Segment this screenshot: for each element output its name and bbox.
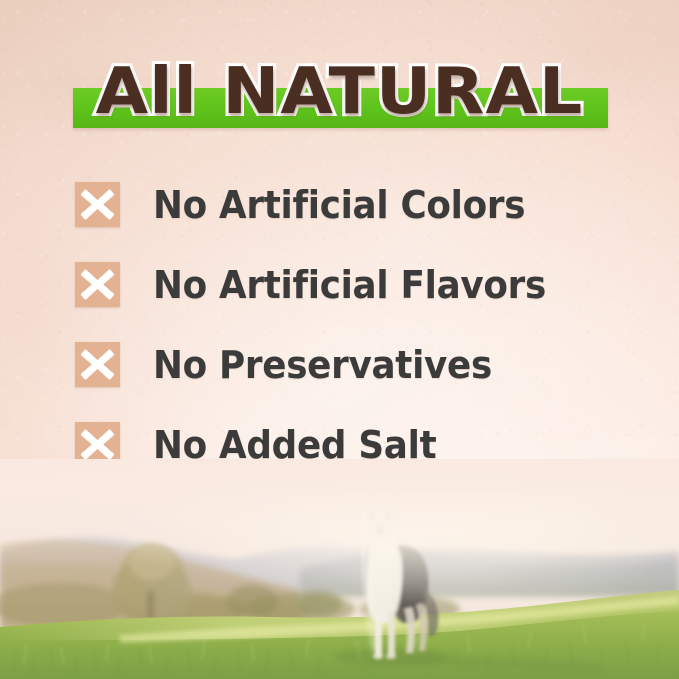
banner-title: All NATURAL — [0, 52, 679, 132]
dog-in-meadow-photo — [0, 459, 679, 679]
list-item: No Artificial Colors — [75, 182, 635, 262]
claims-list: No Artificial Colors No Artificial Flavo… — [75, 182, 635, 502]
list-item: No Artificial Flavors — [75, 262, 635, 342]
x-mark-icon — [75, 182, 120, 227]
x-mark-icon — [75, 262, 120, 307]
x-mark-icon — [75, 342, 120, 387]
list-item: No Preservatives — [75, 342, 635, 422]
claim-label: No Artificial Colors — [153, 177, 525, 233]
claim-label: No Preservatives — [153, 337, 492, 393]
banner: All NATURAL — [0, 52, 679, 132]
product-feature-graphic: All NATURAL No Artificial Colors No Arti… — [0, 0, 679, 679]
claim-label: No Artificial Flavors — [153, 257, 546, 313]
